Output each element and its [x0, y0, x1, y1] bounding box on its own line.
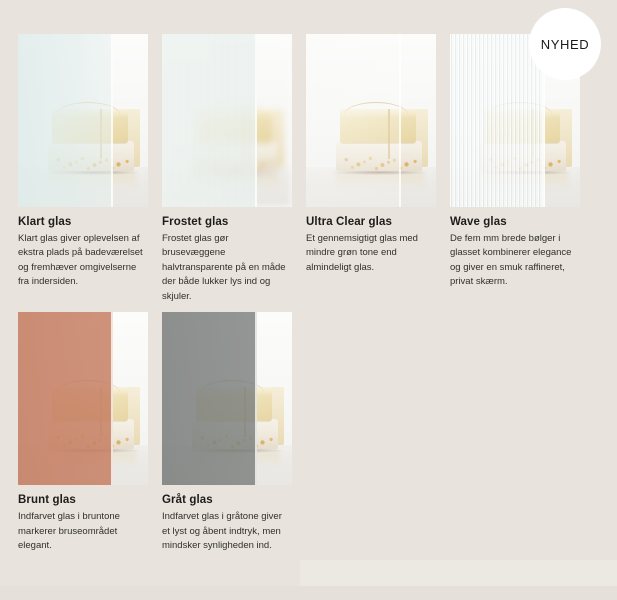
soap-stack — [192, 99, 278, 171]
soap-reflection — [192, 173, 280, 189]
glass-variant-grid: Klart glas Klart glas giver oplevelsen a… — [18, 34, 600, 554]
card-title: Wave glas — [450, 216, 580, 228]
product-image-frostet-glas[interactable] — [162, 34, 292, 207]
nyhed-badge-label: NYHED — [541, 37, 590, 52]
nyhed-badge: NYHED — [529, 8, 601, 80]
photo-scene — [18, 34, 148, 207]
twine-strand — [100, 387, 102, 437]
twine-wrap — [200, 380, 264, 393]
card-title: Klart glas — [18, 216, 148, 228]
soap-reflection — [480, 173, 568, 189]
soap-reflection — [336, 173, 424, 189]
card-klart-glas[interactable]: Klart glas Klart glas giver oplevelsen a… — [18, 34, 148, 304]
twine-wrap — [344, 102, 408, 115]
page-root: Klart glas Klart glas giver oplevelsen a… — [0, 0, 617, 600]
soap-reflection — [192, 451, 280, 467]
twine-wrap — [56, 380, 120, 393]
twine-wrap — [200, 102, 264, 115]
card-description: De fem mm brede bølger i glasset kombine… — [450, 232, 580, 290]
soap-stack — [192, 377, 278, 449]
product-image-graat-glas[interactable] — [162, 312, 292, 485]
card-description: Indfarvet glas i gråtone giver et lyst o… — [162, 510, 292, 553]
photo-scene — [162, 312, 292, 485]
soap-reflection — [48, 173, 136, 189]
soap-reflection — [48, 451, 136, 467]
card-title: Gråt glas — [162, 494, 292, 506]
soap-bar-oat — [48, 141, 134, 171]
card-ultra-clear-glas[interactable]: Ultra Clear glas Et gennemsigtigt glas m… — [306, 34, 436, 304]
soap-bar-oat — [192, 141, 278, 171]
grid-row-2: Brunt glas Indfarvet glas i bruntone mar… — [18, 312, 600, 553]
soap-bar-oat — [336, 141, 422, 171]
soap-bar-oat — [48, 419, 134, 449]
background-patch-bottom — [0, 586, 617, 600]
soap-stack — [480, 99, 566, 171]
soap-stack — [48, 99, 134, 171]
product-image-brunt-glas[interactable] — [18, 312, 148, 485]
twine-strand — [244, 387, 246, 437]
card-title: Ultra Clear glas — [306, 216, 436, 228]
twine-strand — [244, 109, 246, 159]
soap-bar-oat — [192, 419, 278, 449]
background-patch — [300, 560, 617, 600]
card-title: Brunt glas — [18, 494, 148, 506]
twine-strand — [388, 109, 390, 159]
card-brunt-glas[interactable]: Brunt glas Indfarvet glas i bruntone mar… — [18, 312, 148, 553]
card-description: Indfarvet glas i bruntone markerer bruse… — [18, 510, 148, 553]
card-frostet-glas[interactable]: Frostet glas Frostet glas gør brusevægge… — [162, 34, 292, 304]
twine-strand — [532, 109, 534, 159]
soap-stack — [336, 99, 422, 171]
product-image-klart-glas[interactable] — [18, 34, 148, 207]
product-image-ultra-clear-glas[interactable] — [306, 34, 436, 207]
card-graat-glas[interactable]: Gråt glas Indfarvet glas i gråtone giver… — [162, 312, 292, 553]
photo-scene — [306, 34, 436, 207]
twine-wrap — [56, 102, 120, 115]
grid-row-1: Klart glas Klart glas giver oplevelsen a… — [18, 34, 600, 304]
photo-scene — [18, 312, 148, 485]
card-description: Klart glas giver oplevelsen af ekstra pl… — [18, 232, 148, 290]
soap-bar-oat — [480, 141, 566, 171]
twine-wrap — [488, 102, 552, 115]
card-title: Frostet glas — [162, 216, 292, 228]
card-description: Et gennemsigtigt glas med mindre grøn to… — [306, 232, 436, 275]
soap-stack — [48, 377, 134, 449]
card-description: Frostet glas gør brusevæggene halvtransp… — [162, 232, 292, 304]
photo-scene — [162, 34, 292, 207]
twine-strand — [100, 109, 102, 159]
